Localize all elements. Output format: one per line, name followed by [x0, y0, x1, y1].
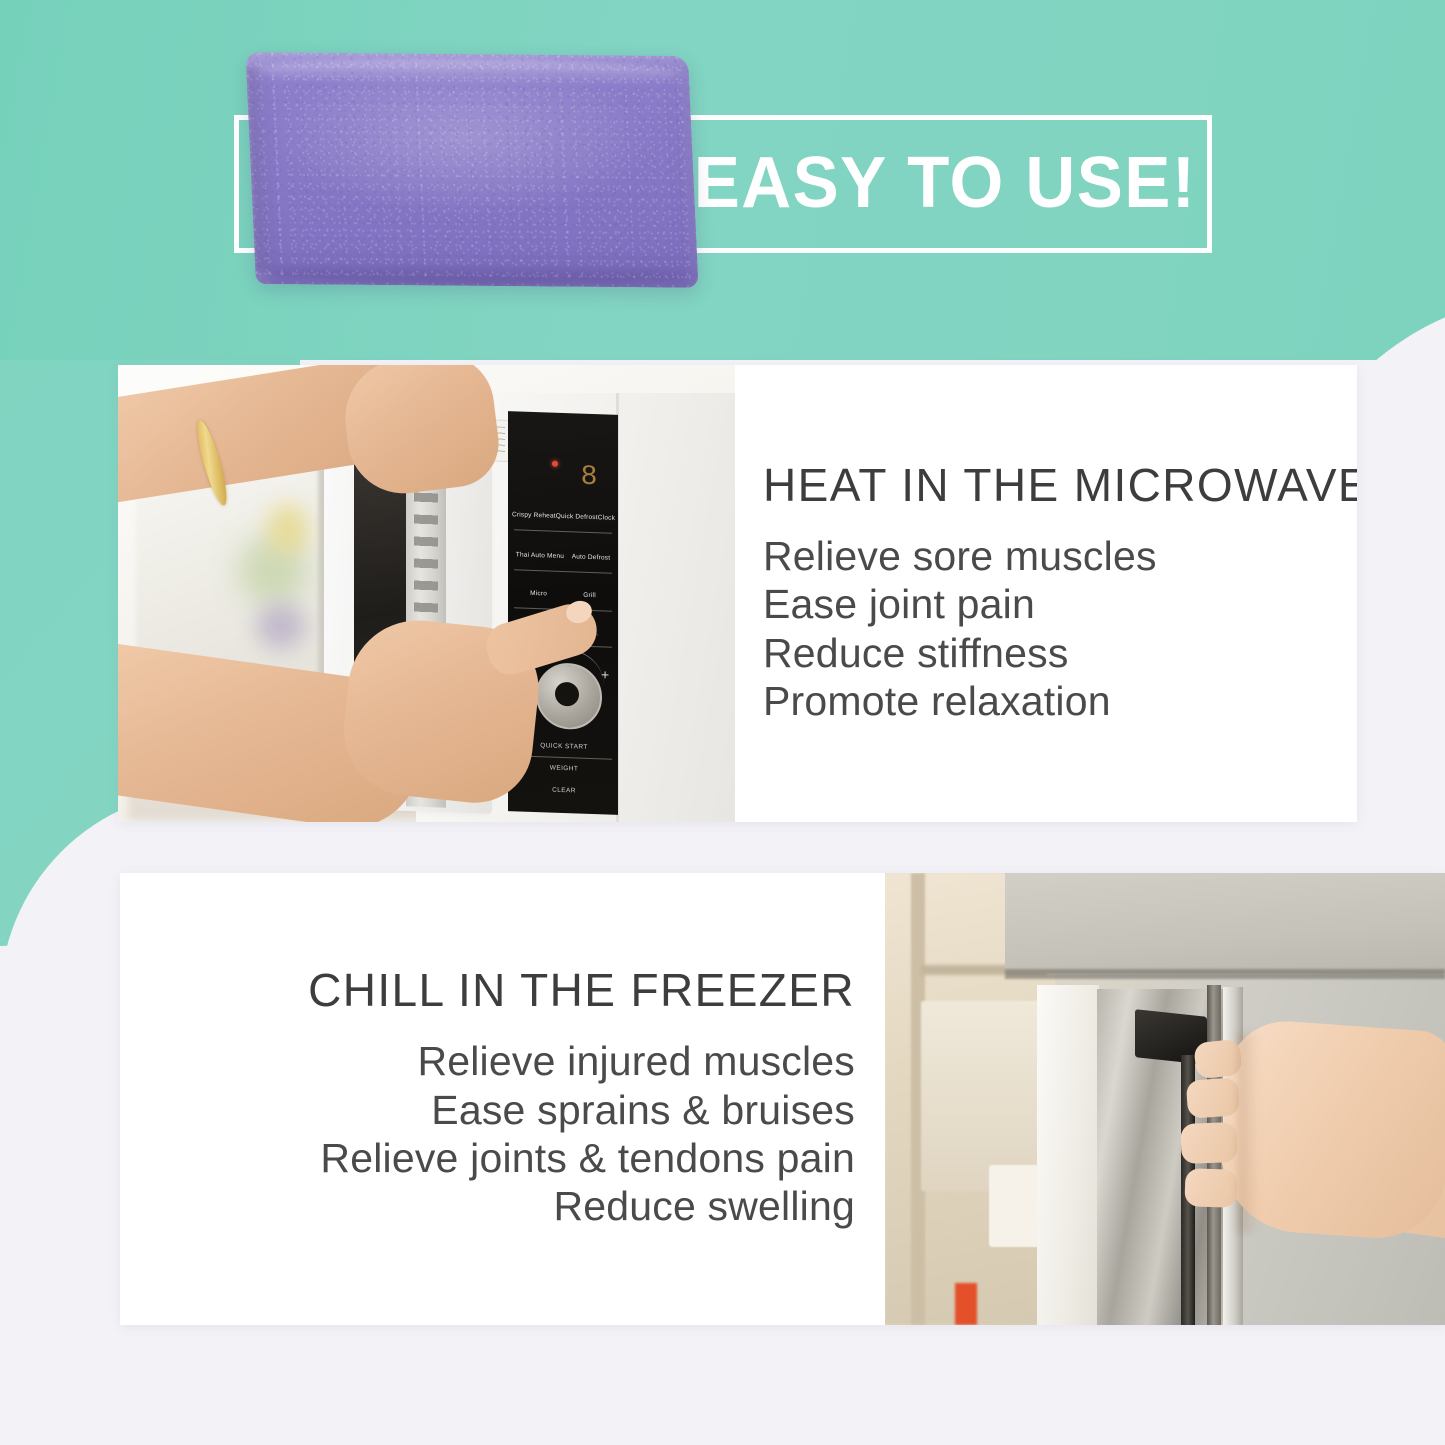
benefit-item: Reduce stiffness	[763, 629, 1157, 677]
freezer-scene	[885, 873, 1445, 1325]
fridge-door-inner-face	[1037, 985, 1099, 1325]
finger	[1186, 1077, 1241, 1119]
button-thai-auto-menu: Thai Auto Menu	[516, 551, 564, 560]
microwave-benefit-list: Relieve sore muscles Ease joint pain Red…	[763, 532, 1157, 726]
fridge-food-container	[989, 1165, 1041, 1247]
benefit-item: Relieve injured muscles	[320, 1037, 855, 1085]
freezer-text-block: CHILL IN THE FREEZER Relieve injured mus…	[120, 873, 885, 1325]
infographic-root: EASY TO USE!	[0, 0, 1445, 1445]
microwave-text-block: HEAT IN THE MICROWAVE Relieve sore muscl…	[735, 365, 1357, 822]
fridge-red-item	[955, 1283, 977, 1325]
finger	[1193, 1039, 1243, 1080]
button-quick-defrost: Quick Defrost	[556, 513, 598, 521]
panel-button-row-1: Crispy Reheat Quick Defrost Clock	[512, 511, 614, 522]
button-crispy-reheat: Crispy Reheat	[512, 511, 556, 520]
freezer-heading: CHILL IN THE FREEZER	[308, 967, 855, 1013]
button-auto-defrost: Auto Defrost	[572, 553, 611, 561]
panel-divider-2	[514, 569, 612, 573]
knuckle-shadow	[1237, 1033, 1259, 1233]
background-purple-blur	[256, 603, 306, 649]
benefit-item: Relieve joints & tendons pain	[320, 1134, 855, 1182]
microwave-heading: HEAT IN THE MICROWAVE	[763, 462, 1357, 508]
fridge-door-gap	[1005, 969, 1445, 979]
benefit-item: Relieve sore muscles	[763, 532, 1157, 580]
freezer-photo	[885, 873, 1445, 1325]
button-micro: Micro	[530, 590, 547, 598]
microwave-photo: 8 Crispy Reheat Quick Defrost Clock Thai…	[118, 365, 735, 822]
button-grill: Grill	[583, 592, 596, 599]
panel-button-row-2: Thai Auto Menu Auto Defrost	[512, 551, 614, 562]
panel-divider-1	[514, 529, 612, 533]
fridge-shelf-lower	[921, 1001, 1047, 1191]
benefit-item: Reduce swelling	[320, 1182, 855, 1230]
freezer-benefit-list: Relieve injured muscles Ease sprains & b…	[320, 1037, 855, 1231]
benefit-item: Promote relaxation	[763, 677, 1157, 725]
fleece-texture	[245, 52, 698, 288]
background-yellow-blur	[268, 505, 308, 553]
banner-corner-curve	[1277, 294, 1445, 360]
plus-label: +	[601, 666, 609, 682]
panel-button-row-3: Micro Grill	[512, 589, 614, 600]
benefit-item: Ease joint pain	[763, 580, 1157, 628]
button-clock: Clock	[598, 514, 615, 522]
finger	[1180, 1122, 1237, 1164]
page-title: EASY TO USE!	[710, 131, 1180, 235]
panel-freezer: CHILL IN THE FREEZER Relieve injured mus…	[120, 873, 1445, 1325]
label-clear: CLEAR	[514, 785, 614, 795]
microwave-display: 8	[574, 455, 604, 500]
panel-microwave: 8 Crispy Reheat Quick Defrost Clock Thai…	[118, 365, 1357, 822]
benefit-item: Ease sprains & bruises	[320, 1086, 855, 1134]
fridge-top-section	[1005, 873, 1445, 973]
product-heating-pad-image	[245, 52, 698, 288]
microwave-scene: 8 Crispy Reheat Quick Defrost Clock Thai…	[118, 365, 735, 822]
indicator-led	[552, 461, 558, 467]
finger	[1184, 1168, 1237, 1208]
